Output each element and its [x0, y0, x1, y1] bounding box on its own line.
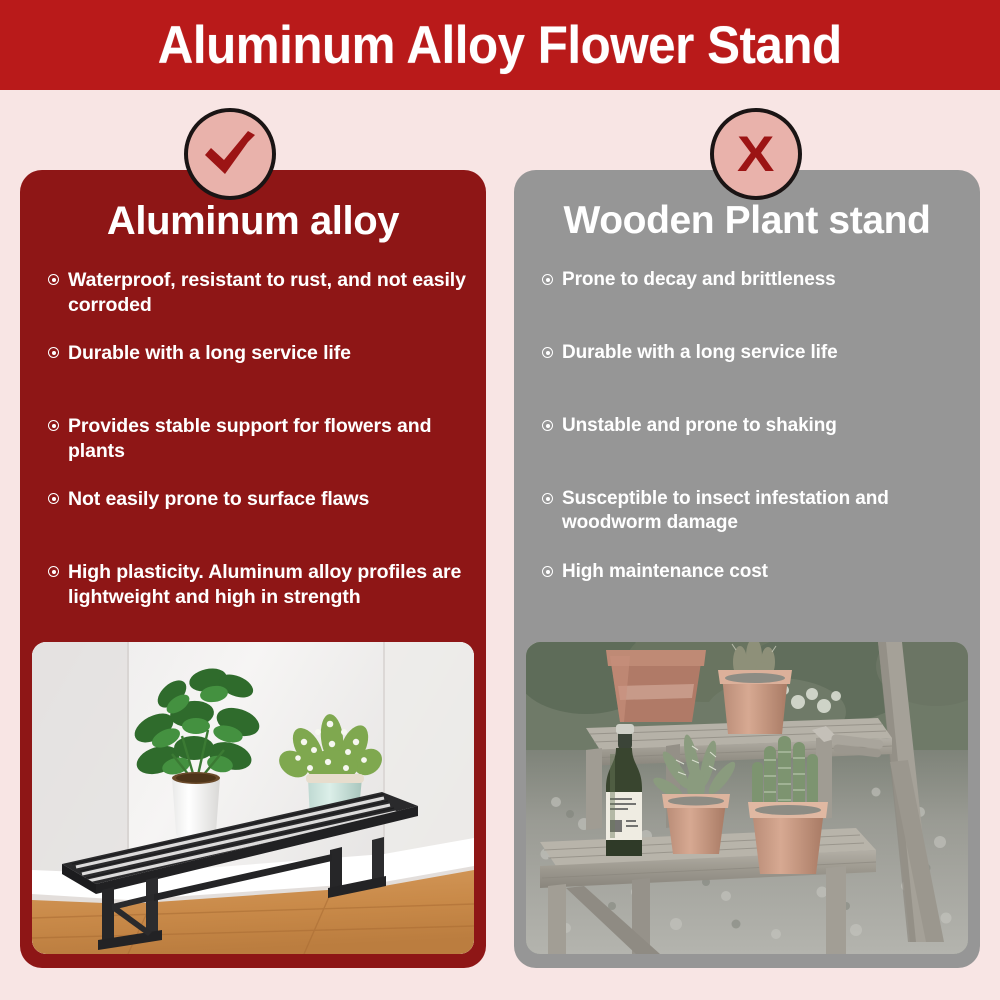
- bullet-dot-icon: [48, 493, 59, 504]
- page-title: Aluminum Alloy Flower Stand: [158, 19, 842, 72]
- bullet-label: Provides stable support for flowers and …: [68, 414, 468, 464]
- aluminum-stand-illustration: [32, 642, 474, 954]
- bullet-label: Unstable and prone to shaking: [562, 414, 837, 438]
- bullet-dot-icon: [542, 347, 553, 358]
- bullet-label: Durable with a long service life: [562, 341, 838, 365]
- list-item: Not easily prone to surface flaws: [48, 487, 468, 560]
- bullet-dot-icon: [542, 566, 553, 577]
- comparison-card-aluminum: Aluminum alloy Waterproof, resistant to …: [20, 170, 486, 968]
- list-item: Durable with a long service life: [48, 341, 468, 414]
- bullet-label: High plasticity. Aluminum alloy profiles…: [68, 560, 468, 610]
- list-item: Susceptible to insect infestation and wo…: [542, 487, 962, 560]
- page-header: Aluminum Alloy Flower Stand: [0, 0, 1000, 90]
- comparison-board: Aluminum alloy Waterproof, resistant to …: [0, 90, 1000, 1000]
- bullet-label: Waterproof, resistant to rust, and not e…: [68, 268, 468, 318]
- x-mark-icon: X: [737, 129, 774, 179]
- comparison-card-wooden: Wooden Plant stand Prone to decay and br…: [514, 170, 980, 968]
- bullet-dot-icon: [542, 493, 553, 504]
- list-item: High maintenance cost: [542, 560, 962, 633]
- list-item: Durable with a long service life: [542, 341, 962, 414]
- list-item: Unstable and prone to shaking: [542, 414, 962, 487]
- bullet-dot-icon: [542, 420, 553, 431]
- check-badge: ✔: [184, 108, 276, 200]
- product-photo-wooden-stand: Weathered gray two-tier wooden plant sta…: [526, 642, 968, 954]
- bullet-label: Durable with a long service life: [68, 341, 351, 366]
- card-heading-wooden: Wooden Plant stand: [514, 200, 980, 242]
- bullet-label: Prone to decay and brittleness: [562, 268, 836, 292]
- product-photo-aluminum-stand: Black aluminum slatted flower stand benc…: [32, 642, 474, 954]
- bullet-dot-icon: [542, 274, 553, 285]
- x-badge: X: [710, 108, 802, 200]
- list-item: Waterproof, resistant to rust, and not e…: [48, 268, 468, 341]
- bullet-label: High maintenance cost: [562, 560, 768, 584]
- bullet-list-wooden: Prone to decay and brittleness Durable w…: [542, 268, 962, 633]
- bullet-dot-icon: [48, 274, 59, 285]
- check-mark-icon: [201, 129, 259, 179]
- wooden-stand-illustration: [526, 642, 968, 954]
- card-heading-aluminum: Aluminum alloy: [20, 200, 486, 243]
- bullet-dot-icon: [48, 566, 59, 577]
- bullet-list-aluminum: Waterproof, resistant to rust, and not e…: [48, 268, 468, 633]
- bullet-label: Not easily prone to surface flaws: [68, 487, 369, 512]
- list-item: High plasticity. Aluminum alloy profiles…: [48, 560, 468, 633]
- list-item: Provides stable support for flowers and …: [48, 414, 468, 487]
- list-item: Prone to decay and brittleness: [542, 268, 962, 341]
- bullet-dot-icon: [48, 347, 59, 358]
- bullet-dot-icon: [48, 420, 59, 431]
- bullet-label: Susceptible to insect infestation and wo…: [562, 487, 962, 536]
